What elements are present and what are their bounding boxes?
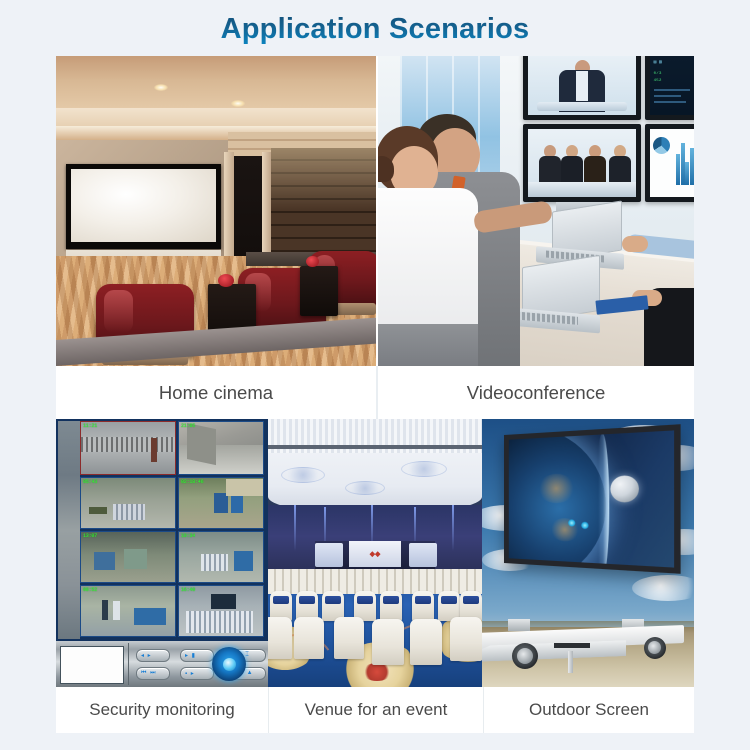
camera-timestamp: 21:05 [181, 423, 195, 429]
bar-chart-bar [690, 148, 694, 185]
dvr-control-panel: ◂ ▸ ⏮ ⏭ ▸ ▮ ▪ ▸ ⌵ ⌶ [56, 641, 268, 687]
panel-participant [609, 145, 631, 182]
dvr-button-glyph: ⏮ ⏭ [141, 670, 156, 677]
video-wall-tile-presenter [523, 56, 641, 120]
dpad-center-button[interactable] [223, 658, 236, 671]
bar-chart-bar [676, 154, 680, 185]
camera-timestamp: 02:18:46 [181, 479, 203, 485]
event-chair [268, 617, 292, 659]
outdoor-screen-illustration [482, 419, 694, 687]
video-wall-tile-dashboard: ▤ ▥ 0/3 452 [645, 56, 694, 120]
participant-panel-feed [528, 129, 636, 197]
top-row-captions: Home cinema Videoconference [56, 366, 694, 419]
caption-videoconference: Videoconference [467, 382, 606, 404]
dashboard-heading-text: ▤ ▥ [654, 60, 662, 65]
chair-sash [273, 596, 289, 604]
event-chair [410, 619, 442, 665]
scene-pallet [113, 504, 145, 520]
event-chair [380, 591, 402, 621]
flower-arrangement [218, 274, 234, 287]
stage-light-beam [294, 505, 296, 551]
stage-screen-logo: ◆◆ [370, 550, 381, 558]
attendee-hand [622, 236, 648, 252]
side-table [300, 266, 338, 316]
moon-graphic [610, 475, 639, 502]
chair-sash [415, 596, 431, 604]
mobile-trailer [482, 625, 688, 673]
caption-cell-home-cinema: Home cinema [56, 366, 376, 419]
scene-crate [124, 549, 147, 569]
cctv-grid: 11:21 21:05 05:43 [56, 419, 268, 641]
ceiling-spotlight-icon [231, 100, 245, 107]
pie-chart-icon [653, 164, 670, 181]
chair-sash [383, 596, 399, 604]
stage-led-screen-center: ◆◆ [349, 541, 400, 567]
caption-outdoor-screen: Outdoor Screen [529, 700, 649, 720]
videoconference-illustration: ▤ ▥ 0/3 452 [378, 56, 694, 366]
participant-body [584, 156, 606, 182]
panel-divider [128, 643, 129, 685]
cloud [632, 575, 694, 601]
dashboard-value-text: 0/3 [654, 72, 662, 76]
chair-highlight [104, 290, 133, 333]
dashboard-row-line [654, 95, 682, 97]
bottom-row-captions: Security monitoring Venue for an event O… [56, 687, 694, 733]
stage-light-beam [452, 505, 454, 551]
camera-tile: 13:07 [80, 531, 176, 583]
camera-tile: 11:21 [80, 421, 176, 475]
caption-home-cinema: Home cinema [159, 382, 273, 404]
camera-tile: 16:40 [178, 585, 264, 637]
scene-crate [94, 552, 115, 570]
scenarios-card: ▤ ▥ 0/3 452 [56, 56, 694, 733]
home-cinema-illustration [56, 56, 376, 366]
scenario-image-videoconference: ▤ ▥ 0/3 452 [378, 56, 694, 366]
tile-screen [528, 56, 636, 115]
chair-sash [357, 596, 373, 604]
chair-sash [299, 596, 315, 604]
glow-dot [581, 522, 589, 530]
earth-graphic [509, 430, 606, 567]
dark-wood-wall [271, 148, 376, 260]
presenter-shirt [576, 71, 588, 101]
video-wall-tile-charts [645, 124, 694, 202]
dashboard-row-line [654, 89, 690, 91]
caption-venue-for-an-event: Venue for an event [305, 700, 448, 720]
tile-screen [650, 129, 694, 197]
bar-chart-bar [685, 162, 689, 185]
dvr-button[interactable]: ▪ ▸ [180, 667, 214, 680]
attendee-blouse [378, 188, 478, 338]
led-screen-frame [504, 424, 681, 574]
scene-building [226, 479, 263, 496]
dashboard-value-text: 452 [654, 79, 662, 83]
chair-sash [463, 596, 479, 604]
video-wall-tile-panel [523, 124, 641, 202]
participant-body [609, 156, 631, 182]
scene-pallet [186, 611, 253, 633]
caption-cell-outdoor-screen: Outdoor Screen [484, 687, 694, 733]
event-chair [372, 619, 404, 665]
ceiling-medallion [281, 467, 325, 483]
participant-body [561, 156, 583, 182]
ceiling-medallion [345, 481, 385, 495]
camera-timestamp: 11:21 [83, 423, 97, 429]
camera-scene [81, 437, 175, 453]
attendee-right [622, 232, 694, 366]
scene-person [113, 601, 120, 620]
financial-dashboard-feed: ▤ ▥ 0/3 452 [650, 56, 694, 115]
wheel-rim [517, 648, 533, 664]
camera-tile: 02:18:46 [178, 477, 264, 529]
dvr-button[interactable]: ▸ ▮ [180, 649, 214, 662]
venue-illustration: ◆◆ [268, 419, 482, 687]
earth-atmosphere-glow [596, 433, 610, 568]
ceiling-medallion [401, 461, 447, 477]
scene-barrel [231, 495, 243, 513]
caption-cell-security-monitoring: Security monitoring [56, 687, 268, 733]
trailer-wheel [644, 637, 666, 659]
scene-pallet [201, 554, 228, 571]
dvr-button-glyph: ◂ ▸ [141, 652, 152, 659]
presenter-feed [528, 56, 636, 115]
dvr-joystick-dpad[interactable] [212, 647, 246, 681]
glow-dot [568, 519, 576, 527]
dvr-button[interactable]: ⏮ ⏭ [136, 667, 170, 680]
dashboard-row-line [654, 101, 686, 103]
charts-feed [650, 129, 694, 197]
scenarios-bottom-row: 11:21 21:05 05:43 [56, 419, 694, 687]
scenario-image-home-cinema [56, 56, 376, 366]
trailer-hitch [554, 643, 590, 648]
projection-screen-frame [66, 164, 221, 249]
pie-chart-icon [653, 137, 670, 154]
chair-row-far [268, 569, 482, 581]
event-chair [294, 617, 324, 659]
camera-tile: 21:05 [178, 421, 264, 475]
cctv-left-strip [58, 421, 80, 639]
scene-object [151, 438, 157, 462]
chair-sash [441, 596, 457, 604]
bar-chart-bar [681, 143, 685, 185]
trailer-wheel [512, 643, 538, 669]
participant-body [539, 156, 561, 182]
caption-cell-venue: Venue for an event [268, 687, 484, 733]
stage-led-screen-right [409, 543, 437, 567]
event-chair [450, 617, 482, 661]
scene-barrel [214, 493, 227, 513]
ceiling-spotlight-icon [154, 84, 168, 91]
trailer-jack [568, 651, 573, 673]
camera-timestamp: 13:07 [83, 533, 97, 539]
camera-tile: 08:52 [80, 585, 176, 637]
scenario-image-venue: ◆◆ [268, 419, 482, 687]
wheel-rim [648, 641, 661, 654]
podium [537, 102, 628, 112]
earth-landmass [538, 473, 576, 503]
dvr-button-glyph: ▪ ▸ [185, 670, 195, 677]
scene-object [187, 423, 216, 465]
camera-timestamp: 05:43 [83, 479, 97, 485]
dvr-button[interactable]: ◂ ▸ [136, 649, 170, 662]
scenario-image-security-monitoring: 11:21 21:05 05:43 [56, 419, 268, 687]
event-chair [412, 591, 434, 621]
application-scenarios-page: Application Scenarios [0, 0, 750, 750]
spacecraft-glow [568, 519, 592, 530]
scene-person [102, 600, 109, 620]
led-screen-display [509, 430, 674, 567]
tile-screen: ▤ ▥ 0/3 452 [650, 56, 694, 115]
panel-participant [539, 145, 561, 182]
camera-tile: 05:43 [80, 477, 176, 529]
scene-object [89, 507, 108, 514]
camera-timestamp: 08:52 [83, 587, 97, 593]
scene-container [211, 594, 236, 609]
dvr-button-glyph: ▸ ▮ [185, 652, 196, 659]
panel-table [528, 182, 636, 197]
panel-participant [584, 145, 606, 182]
stage-led-screen-left [315, 543, 343, 567]
caption-cell-videoconference: Videoconference [378, 366, 694, 419]
attendee-trousers [378, 324, 478, 366]
scenarios-top-row: ▤ ▥ 0/3 452 [56, 56, 694, 366]
ceiling-truss [268, 445, 482, 449]
scenario-image-outdoor-screen [482, 419, 694, 687]
scene-barrel [234, 551, 252, 571]
camera-tile: 19:34 [178, 531, 264, 583]
security-monitoring-illustration: 11:21 21:05 05:43 [56, 419, 268, 687]
attendee-woman [378, 126, 485, 366]
event-chair [334, 617, 364, 659]
flower-arrangement [306, 256, 319, 267]
page-title: Application Scenarios [0, 12, 750, 46]
tile-screen [528, 129, 636, 197]
panel-participant [561, 145, 583, 182]
projection-screen [71, 169, 216, 242]
dvr-display [60, 646, 124, 684]
camera-timestamp: 19:34 [181, 533, 195, 539]
scene-barrel [134, 608, 166, 625]
caption-security-monitoring: Security monitoring [89, 700, 235, 720]
screen-mount [508, 619, 530, 631]
camera-timestamp: 16:40 [181, 587, 195, 593]
chair-sash [325, 596, 341, 604]
